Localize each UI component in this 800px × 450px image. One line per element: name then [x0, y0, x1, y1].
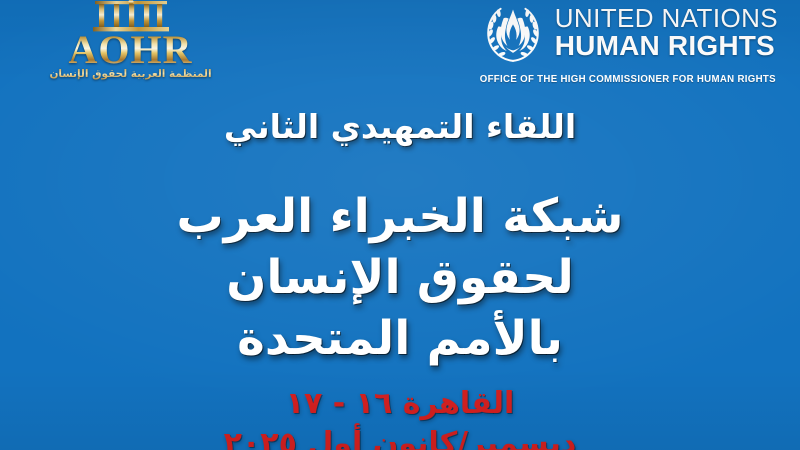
event-title-line-3: بالأمم المتحدة: [0, 308, 800, 369]
aohr-arabic-name: المنظمة العربية لحقوق الإنسان: [38, 68, 223, 80]
aohr-acronym: AOHR: [38, 31, 223, 69]
un-logo-lockup: UNITED NATIONS HUMAN RIGHTS: [481, 2, 778, 64]
event-kicker: اللقاء التمهيدي الثاني: [0, 108, 800, 146]
un-human-rights-logo: UNITED NATIONS HUMAN RIGHTS OFFICE OF TH…: [454, 2, 778, 85]
event-title: شبكة الخبراء العرب لحقوق الإنسان بالأمم …: [0, 186, 800, 369]
event-date-location: القاهرة ١٦ - ١٧ ديسمبر/كانون أول ٢٠٢٥: [0, 384, 800, 450]
event-title-line-2: لحقوق الإنسان: [0, 247, 800, 308]
event-month-year: ديسمبر/كانون أول ٢٠٢٥: [0, 424, 800, 450]
aohr-logo: AOHR المنظمة العربية لحقوق الإنسان: [38, 0, 223, 80]
un-human-rights-laurel-flame-icon: [481, 2, 545, 64]
un-wordmark: UNITED NATIONS HUMAN RIGHTS: [555, 5, 778, 62]
ohchr-tagline: OFFICE OF THE HIGH COMMISSIONER FOR HUMA…: [480, 73, 776, 85]
event-poster: AOHR المنظمة العربية لحقوق الإنسان: [0, 0, 800, 450]
event-title-line-1: شبكة الخبراء العرب: [0, 186, 800, 247]
un-wordmark-line1: UNITED NATIONS: [555, 5, 778, 31]
poster-header: AOHR المنظمة العربية لحقوق الإنسان: [0, 0, 800, 96]
un-wordmark-line2: HUMAN RIGHTS: [555, 32, 778, 60]
event-location-and-days: القاهرة ١٦ - ١٧: [0, 384, 800, 424]
